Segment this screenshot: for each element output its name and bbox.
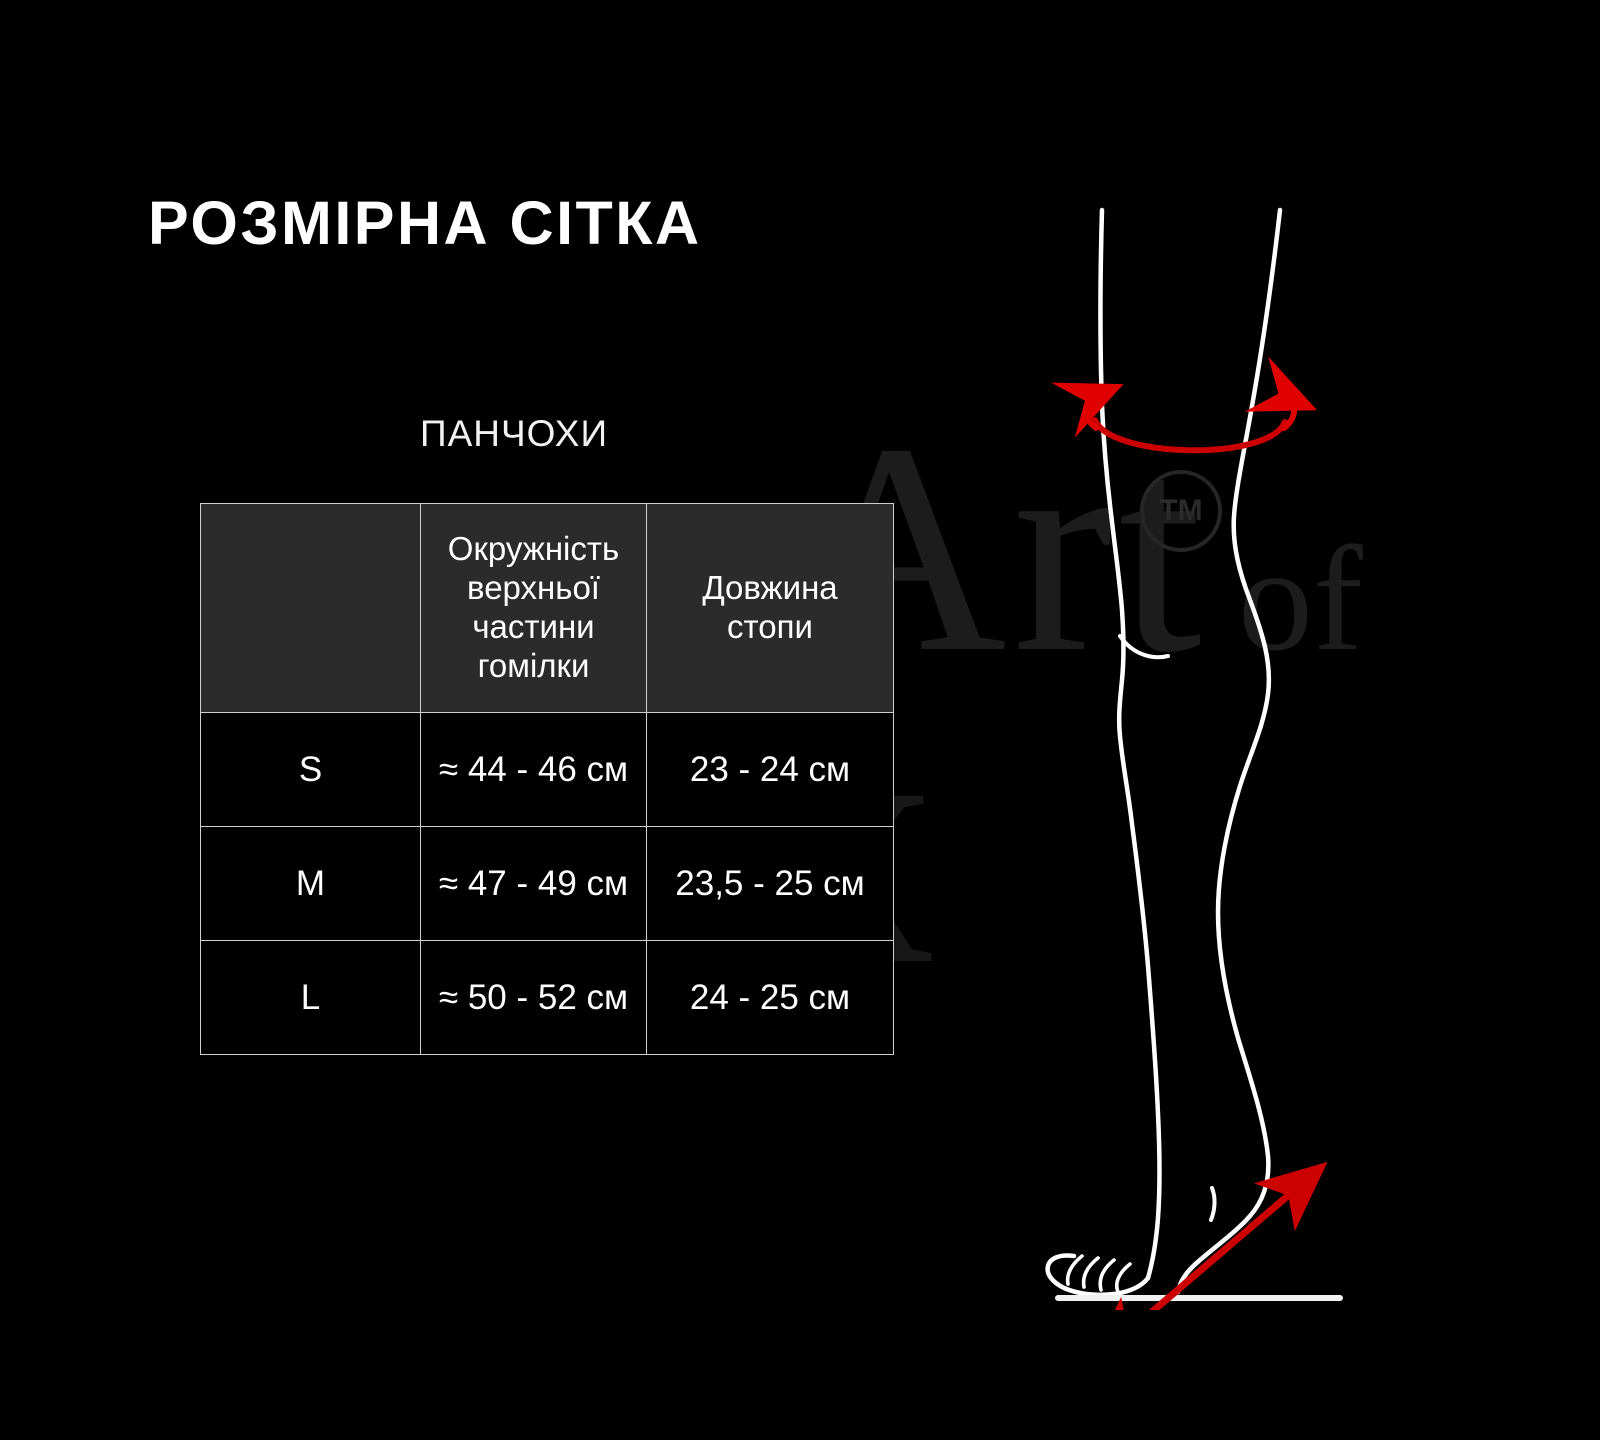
toe-line-1: [1068, 1256, 1082, 1284]
cell-calf: ≈ 50 - 52 см: [421, 941, 647, 1055]
table-row: S ≈ 44 - 46 см 23 - 24 см: [201, 713, 894, 827]
table-header-row: Окружність верхньої частини гомілки Довж…: [201, 504, 894, 713]
cell-calf: ≈ 47 - 49 см: [421, 827, 647, 941]
ankle-detail-mark: [1211, 1188, 1215, 1220]
column-header-foot-length: Довжина стопи: [647, 504, 894, 713]
cell-size: L: [201, 941, 421, 1055]
thigh-circumference-ellipse: [1095, 420, 1285, 450]
table-header: Окружність верхньої частини гомілки Довж…: [201, 504, 894, 713]
cell-size: M: [201, 827, 421, 941]
cell-size: S: [201, 713, 421, 827]
toe-line-4: [1117, 1264, 1130, 1292]
column-header-calf-circumference: Окружність верхньої частини гомілки: [421, 504, 647, 713]
table-row: M ≈ 47 - 49 см 23,5 - 25 см: [201, 827, 894, 941]
cell-foot: 23,5 - 25 см: [647, 827, 894, 941]
table-row: L ≈ 50 - 52 см 24 - 25 см: [201, 941, 894, 1055]
leg-outline-front: [1101, 210, 1160, 1278]
column-header-size: [201, 504, 421, 713]
page-title: РОЗМІРНА СІТКА: [148, 188, 702, 258]
table-body: S ≈ 44 - 46 см 23 - 24 см M ≈ 47 - 49 см…: [201, 713, 894, 1055]
leg-illustration: [950, 170, 1410, 1310]
size-chart-table: Окружність верхньої частини гомілки Довж…: [200, 503, 894, 1055]
cell-foot: 24 - 25 см: [647, 941, 894, 1055]
thigh-circumference-arrow-right: [1284, 396, 1294, 428]
foot-outline: [1048, 1255, 1148, 1294]
thigh-circumference-arrow-left: [1086, 396, 1096, 428]
toe-line-3: [1100, 1260, 1114, 1290]
table-caption: ПАНЧОХИ: [420, 413, 608, 455]
cell-calf: ≈ 44 - 46 см: [421, 713, 647, 827]
toe-line-2: [1084, 1258, 1098, 1287]
cell-foot: 23 - 24 см: [647, 713, 894, 827]
leg-outline-back: [1178, 210, 1280, 1292]
knee-detail-mark: [1120, 636, 1168, 657]
